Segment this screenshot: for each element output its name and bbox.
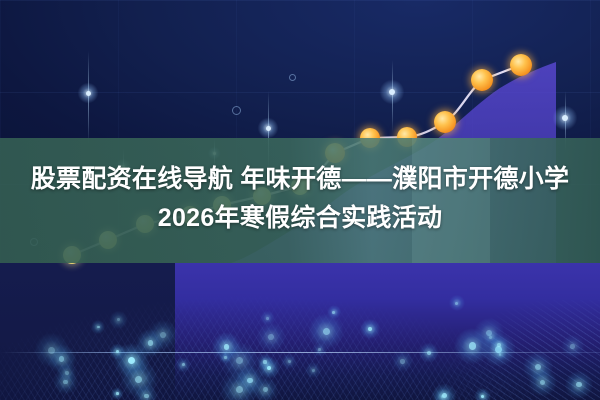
- sparkle: [236, 357, 243, 364]
- page-title: 股票配资在线导航 年味开德——濮阳市开德小学2026年寒假综合实践活动: [0, 160, 600, 238]
- sparkle: [65, 371, 69, 375]
- sparkle: [540, 380, 546, 386]
- sparkle: [318, 348, 321, 351]
- sparkle: [312, 369, 315, 372]
- sparkle: [48, 347, 55, 354]
- sparkle: [400, 359, 404, 363]
- data-point: [434, 111, 456, 133]
- sparkle: [116, 392, 119, 395]
- sparkle: [144, 394, 149, 399]
- glow-node: [86, 91, 91, 96]
- data-point: [471, 69, 493, 91]
- sparkle: [182, 363, 185, 366]
- ring-marker: [232, 106, 241, 115]
- sparkle: [576, 382, 582, 388]
- sparkle: [368, 327, 372, 331]
- sparkle: [427, 351, 431, 355]
- sparkle: [442, 393, 447, 398]
- data-point: [510, 54, 532, 76]
- glow-node: [266, 126, 271, 131]
- sparkle: [481, 395, 484, 398]
- sparkle: [117, 318, 121, 322]
- sparkle: [135, 376, 142, 383]
- glow-node: [562, 115, 568, 121]
- sparkle: [268, 334, 274, 340]
- sparkle: [497, 343, 501, 347]
- sparkle: [266, 317, 269, 320]
- glow-node: [389, 89, 395, 95]
- sparkle: [323, 328, 330, 335]
- sparkle: [263, 387, 268, 392]
- sparkle: [332, 311, 335, 314]
- sparkle: [116, 350, 119, 353]
- sparkle: [236, 386, 243, 393]
- sparkle: [570, 344, 575, 349]
- sparkle: [469, 342, 476, 349]
- sparkle: [224, 356, 227, 359]
- title-line-2: 26年寒假综合实践活动: [186, 204, 442, 232]
- ring-marker: [289, 74, 296, 81]
- sparkle: [489, 336, 492, 339]
- sparkle: [148, 340, 154, 346]
- sparkle: [455, 302, 458, 305]
- sparkle: [288, 360, 291, 363]
- sparkle: [263, 360, 266, 363]
- sparkle: [97, 326, 100, 329]
- banner-image: 股票配资在线导航 年味开德——濮阳市开德小学2026年寒假综合实践活动: [0, 0, 600, 400]
